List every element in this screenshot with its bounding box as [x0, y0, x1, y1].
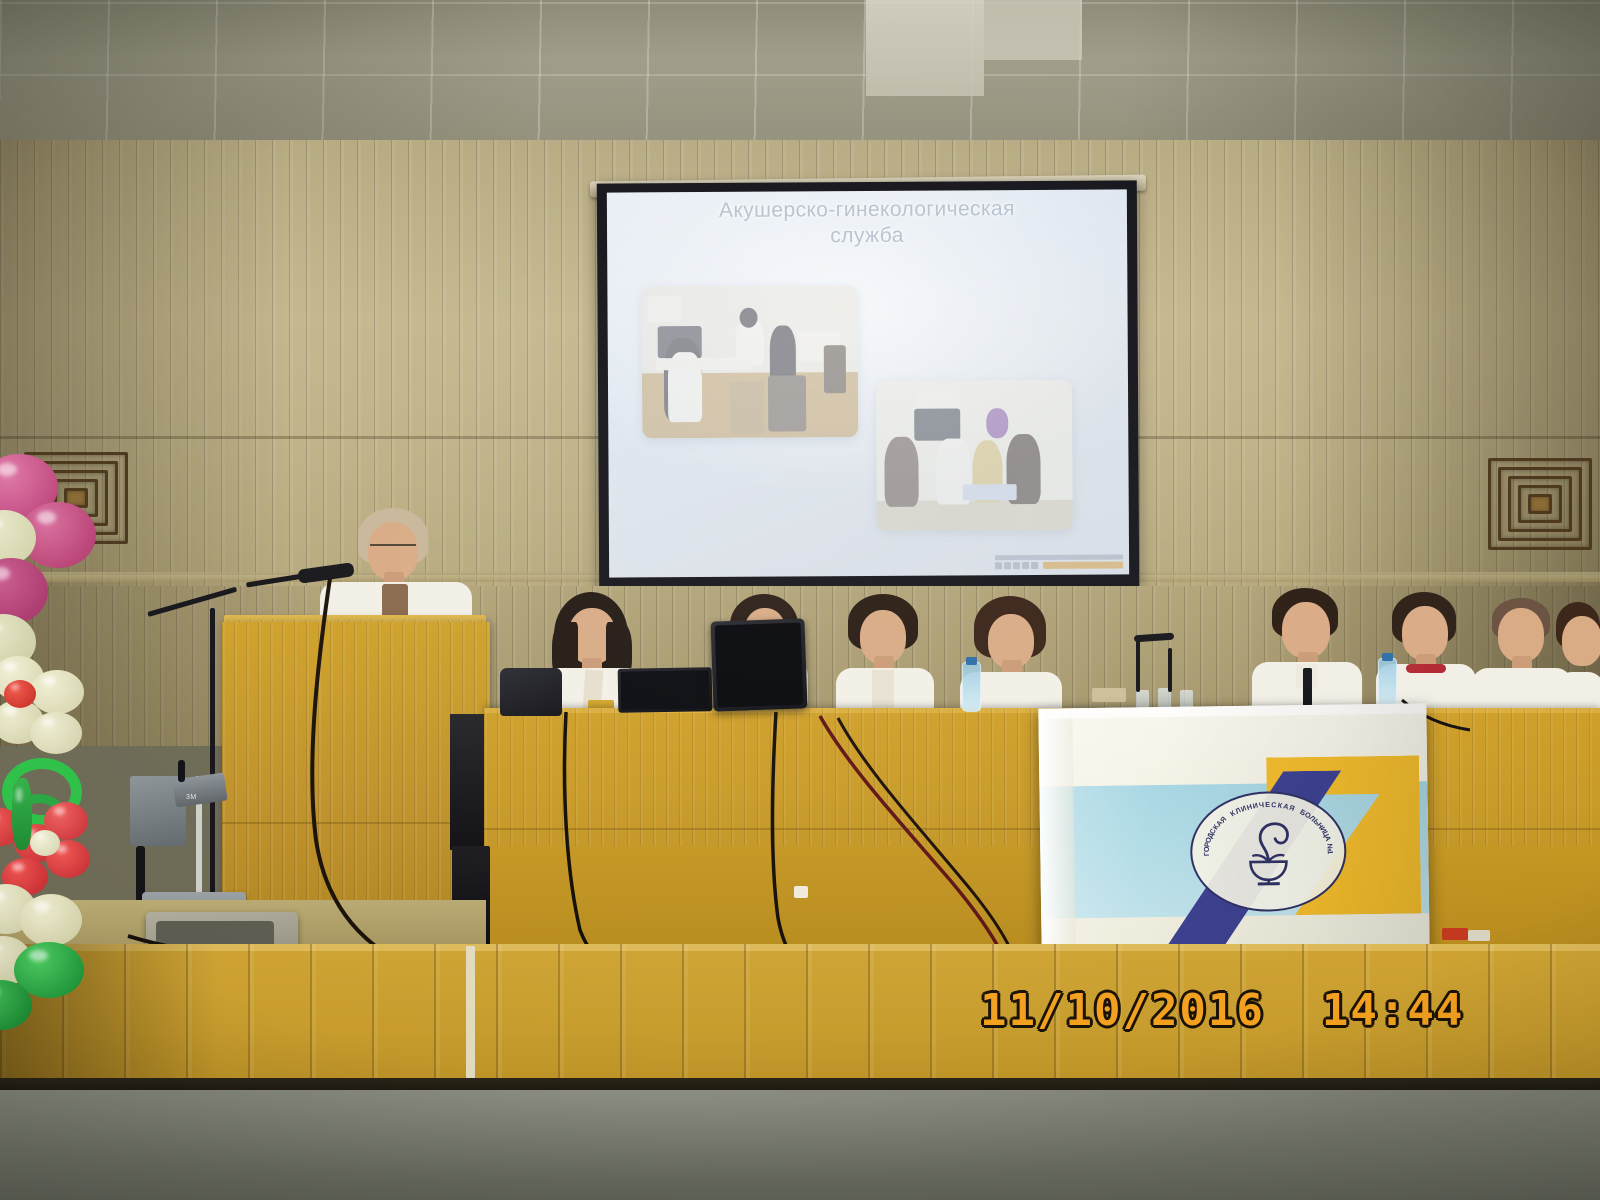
slide-browser-toolbar [995, 554, 1123, 569]
projection-screen: Акушерско-гинекологическая служба [598, 182, 1138, 588]
balloon-decoration [0, 448, 124, 1000]
balloon-red-center [4, 680, 36, 708]
laptop [618, 667, 713, 713]
slide-title-line2: служба [638, 222, 1096, 251]
panelist-8 [1556, 602, 1600, 722]
camera-date-stamp: 11/10/2016 14:44 [980, 985, 1464, 1036]
projector-brand-label: 3M [186, 794, 197, 801]
stage-white-tape [466, 946, 475, 1096]
balloon-green-stem [12, 778, 32, 850]
balloon-white-center [30, 830, 60, 856]
screen-surface: Акушерско-гинекологическая служба [607, 189, 1129, 577]
screen-frame: Акушерско-гинекологическая служба [597, 180, 1139, 589]
crt-monitor-on-table [710, 618, 807, 711]
laptop-bag [500, 668, 562, 716]
conference-hall-photo: Акушерско-гинекологическая служба [0, 0, 1600, 1200]
toolbar-button-icon [1013, 562, 1020, 569]
slide-photo-right [876, 380, 1073, 531]
table-mic-stem [1136, 638, 1140, 692]
toolbar-button-icon [1022, 562, 1029, 569]
water-bottle-1 [962, 662, 981, 712]
cable-clip [794, 886, 808, 898]
toolbar-button-icon [1031, 562, 1038, 569]
toolbar-button-icon [1004, 562, 1011, 569]
slide-title-line1: Акушерско-гинекологическая [638, 196, 1096, 225]
ceiling [0, 0, 1600, 148]
hospital-banner: ГОРОДСКАЯ КЛИНИЧЕСКАЯ БОЛЬНИЦА №1 [1038, 703, 1429, 956]
necklace [1406, 664, 1446, 673]
panelist-3 [832, 594, 938, 720]
table-mic-stem-2 [1168, 648, 1172, 692]
slide-title: Акушерско-гинекологическая служба [638, 196, 1096, 251]
ceiling-shading [0, 0, 1600, 148]
red-plug [1442, 928, 1468, 940]
wall-ornament-right [1488, 458, 1592, 550]
eyeglasses [370, 544, 416, 553]
panelist-5 [1250, 588, 1366, 722]
water-bottle-2 [1378, 658, 1397, 708]
slide-photo-left [641, 285, 858, 438]
loudspeaker-upper [450, 714, 484, 850]
toolbar-button-icon [995, 562, 1002, 569]
floor [0, 1090, 1600, 1200]
papers-on-table [1092, 688, 1126, 702]
balloon-white [20, 894, 82, 946]
white-plug [1468, 930, 1490, 941]
projector-lamp-arm [178, 760, 185, 782]
balloon-white [30, 712, 82, 754]
toolbar-address-field [1043, 561, 1123, 568]
